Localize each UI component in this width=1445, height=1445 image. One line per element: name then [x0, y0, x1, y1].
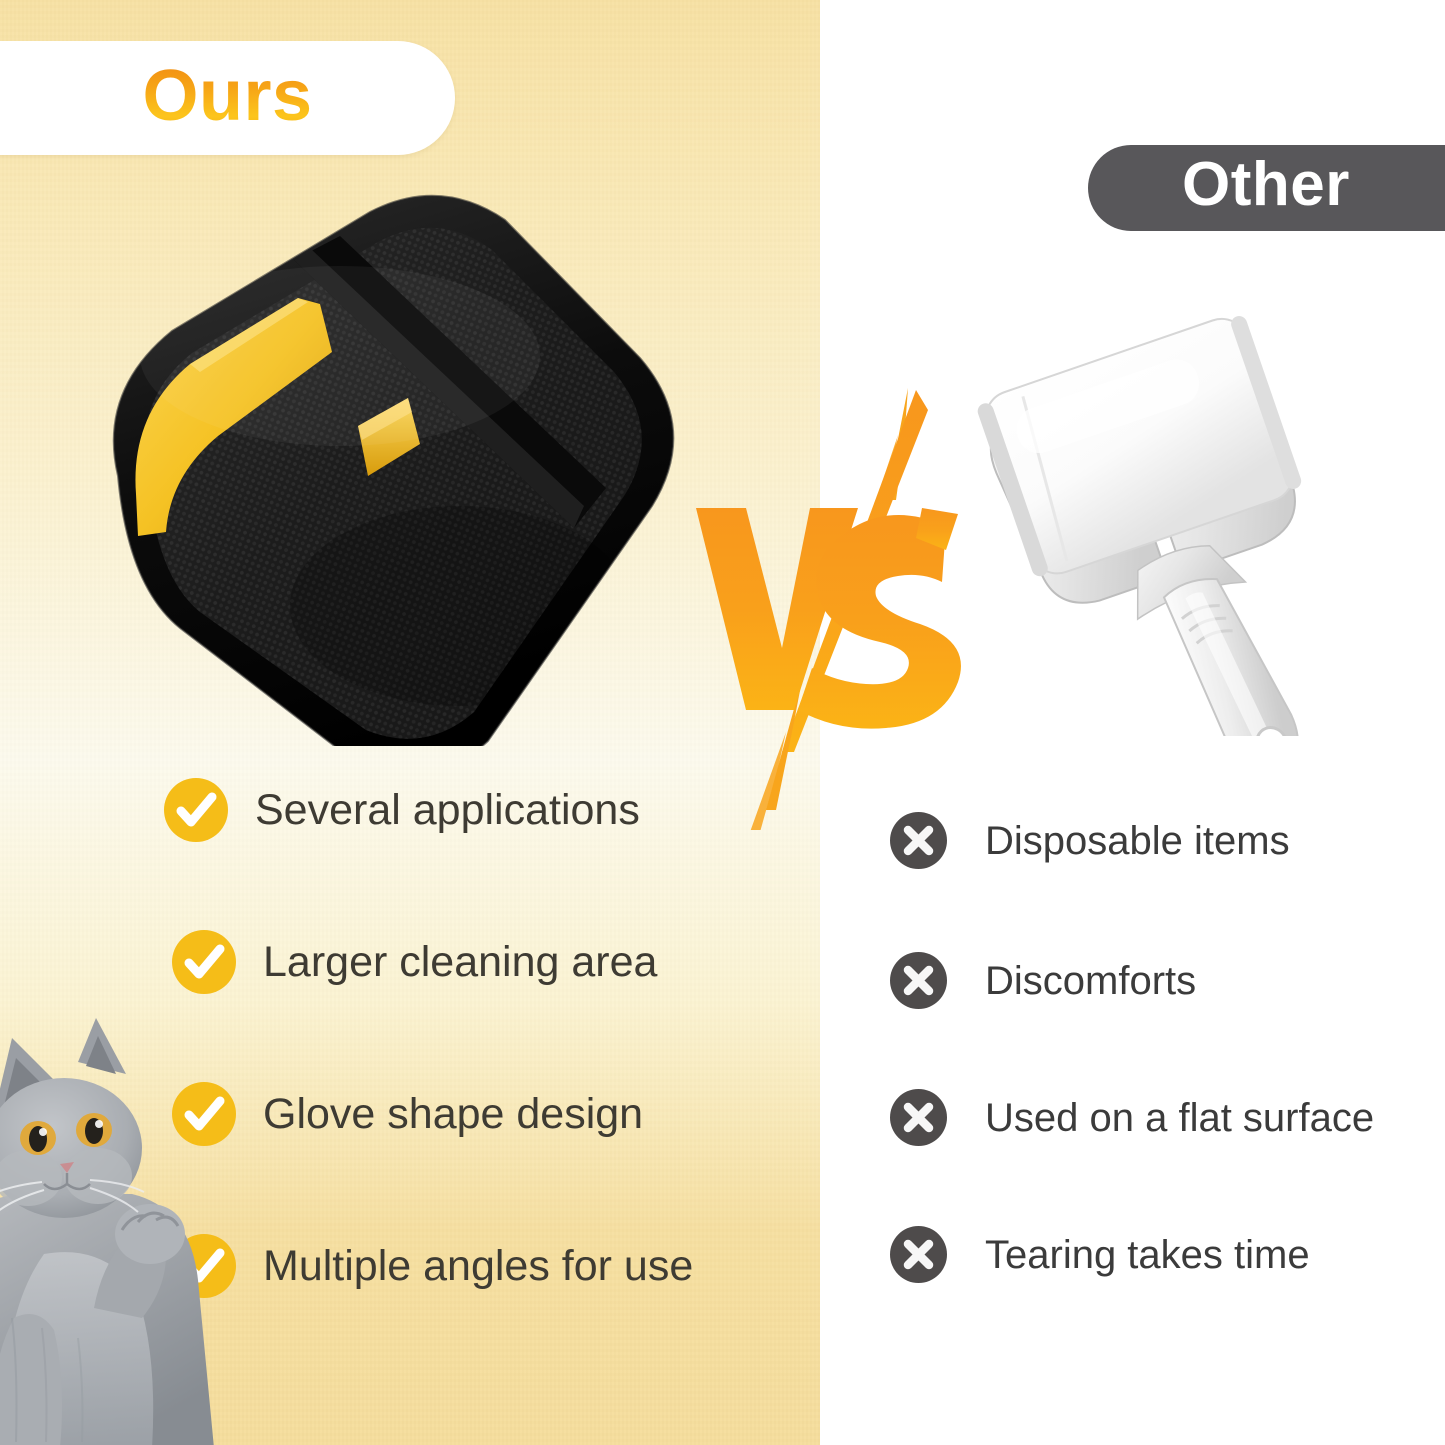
check-icon: [172, 930, 236, 994]
drawback-label: Used on a flat surface: [985, 1098, 1374, 1138]
gray-cat-photo: [0, 1018, 292, 1445]
feature-label: Several applications: [255, 789, 640, 832]
feature-label: Larger cleaning area: [263, 941, 657, 984]
drawback-label: Disposable items: [985, 821, 1290, 861]
feature-label: Glove shape design: [263, 1093, 643, 1136]
list-item: Tearing takes time: [890, 1226, 1310, 1283]
list-item: Several applications: [164, 778, 640, 842]
drawback-label: Tearing takes time: [985, 1235, 1310, 1275]
pet-grooming-glove-image: [40, 176, 710, 746]
list-item: Larger cleaning area: [172, 930, 657, 994]
cross-icon: [890, 952, 947, 1009]
vs-lightning-icon: VS: [690, 380, 990, 830]
list-item: Discomforts: [890, 952, 1196, 1009]
other-badge-label: Other: [1182, 154, 1350, 216]
lint-roller-image: [948, 268, 1418, 736]
drawback-label: Discomforts: [985, 961, 1196, 1001]
cross-icon: [890, 1226, 947, 1283]
check-icon: [164, 778, 228, 842]
ours-badge: Ours: [0, 41, 455, 155]
cross-icon: [890, 1089, 947, 1146]
list-item: Disposable items: [890, 812, 1290, 869]
ours-badge-label: Ours: [142, 60, 312, 132]
feature-label: Multiple angles for use: [263, 1245, 693, 1288]
cross-icon: [890, 812, 947, 869]
list-item: Used on a flat surface: [890, 1089, 1374, 1146]
comparison-infographic: Ours Other: [0, 0, 1445, 1445]
other-badge: Other: [1088, 145, 1445, 231]
